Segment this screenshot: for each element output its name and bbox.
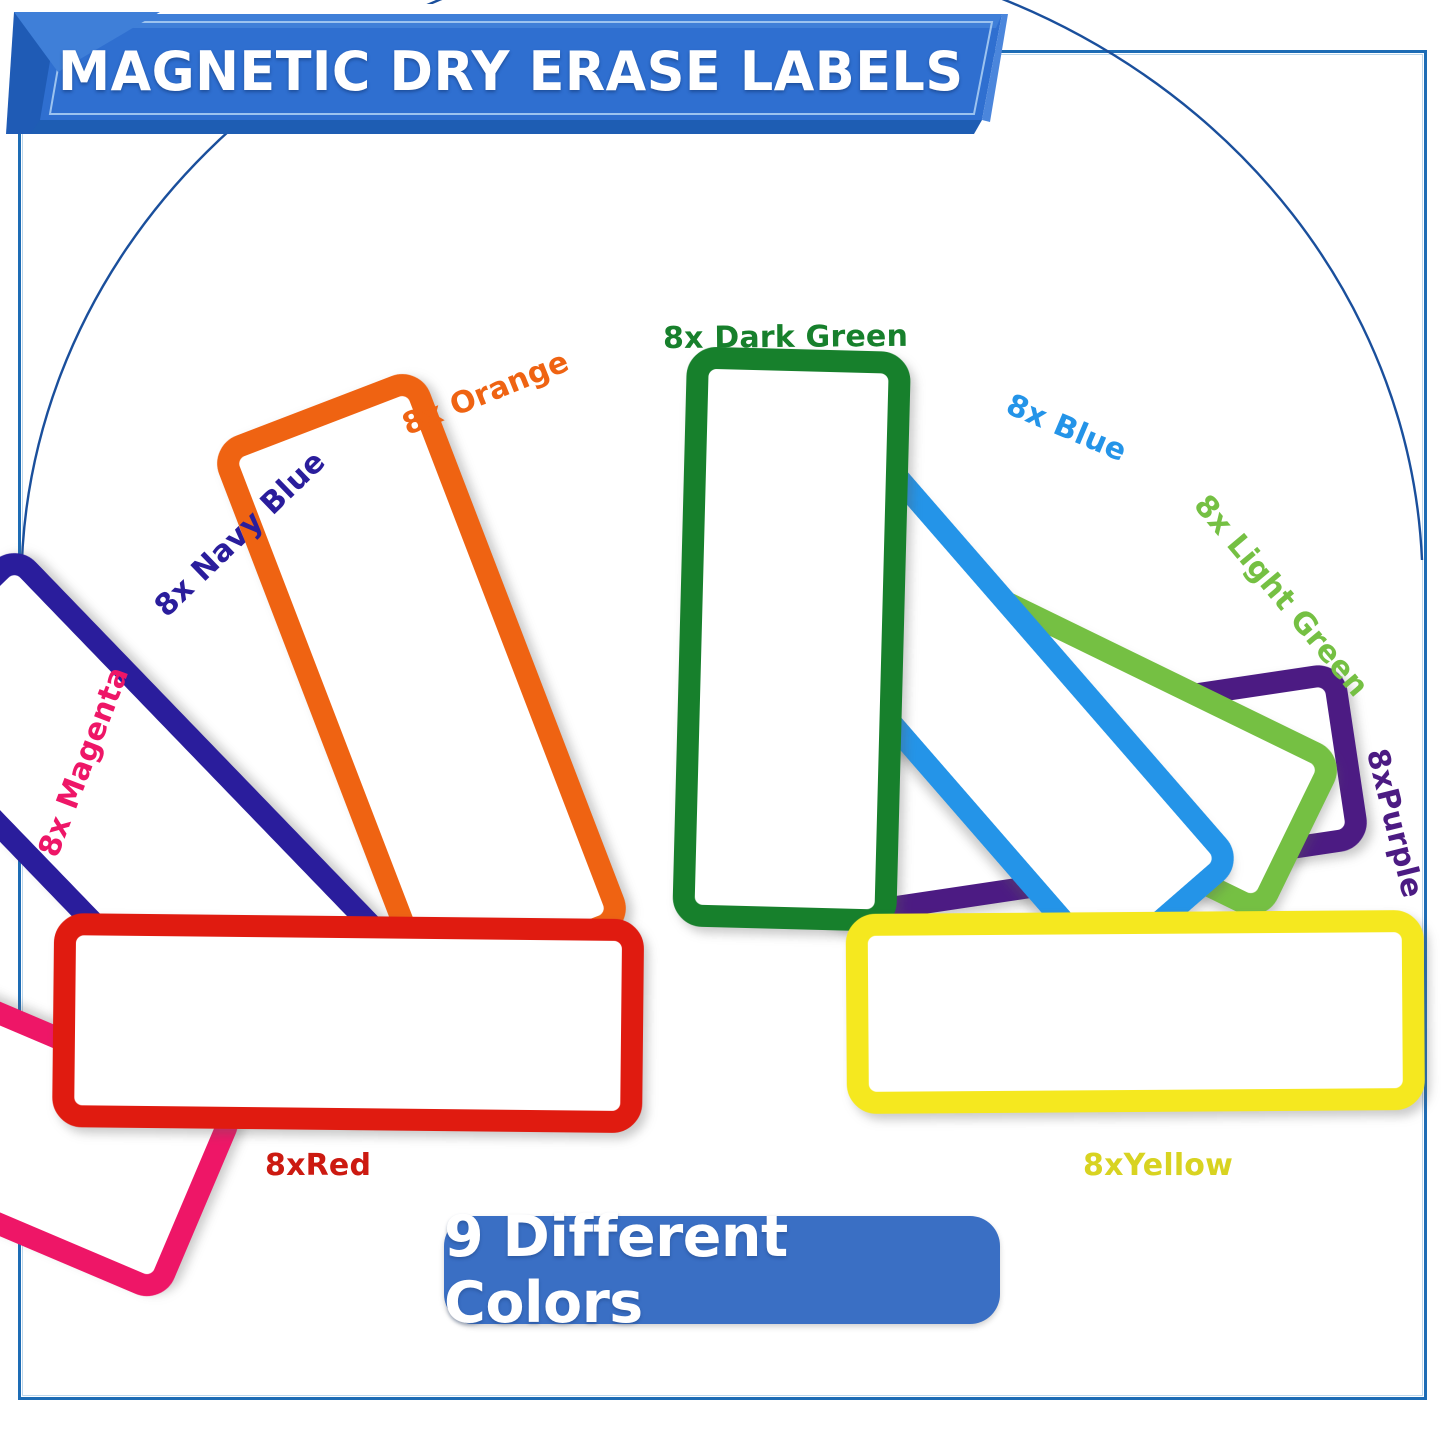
label-card-dark-green[interactable] [672,346,911,932]
label-card-red[interactable] [52,913,644,1133]
label-card-surface-dark-green [695,369,889,910]
different-colors-badge-label: 9 Different Colors [444,1204,1000,1336]
label-caption-red: 8xRed [265,1148,371,1183]
label-caption-purple: 8xPurple [1359,745,1430,901]
page-title: MAGNETIC DRY ERASE LABELS [58,28,931,114]
label-card-yellow[interactable] [846,910,1425,1114]
label-card-surface-red [74,935,622,1111]
header-banner: MAGNETIC DRY ERASE LABELS [0,2,1010,138]
label-caption-blue: 8x Blue [1001,387,1132,469]
product-infographic: MAGNETIC DRY ERASE LABELS 8x Magenta 8x … [0,0,1445,1431]
label-caption-yellow: 8xYellow [1083,1148,1233,1183]
label-card-surface-yellow [868,932,1403,1092]
label-caption-dark-green: 8x Dark Green [663,319,908,356]
different-colors-badge[interactable]: 9 Different Colors [444,1216,1000,1324]
